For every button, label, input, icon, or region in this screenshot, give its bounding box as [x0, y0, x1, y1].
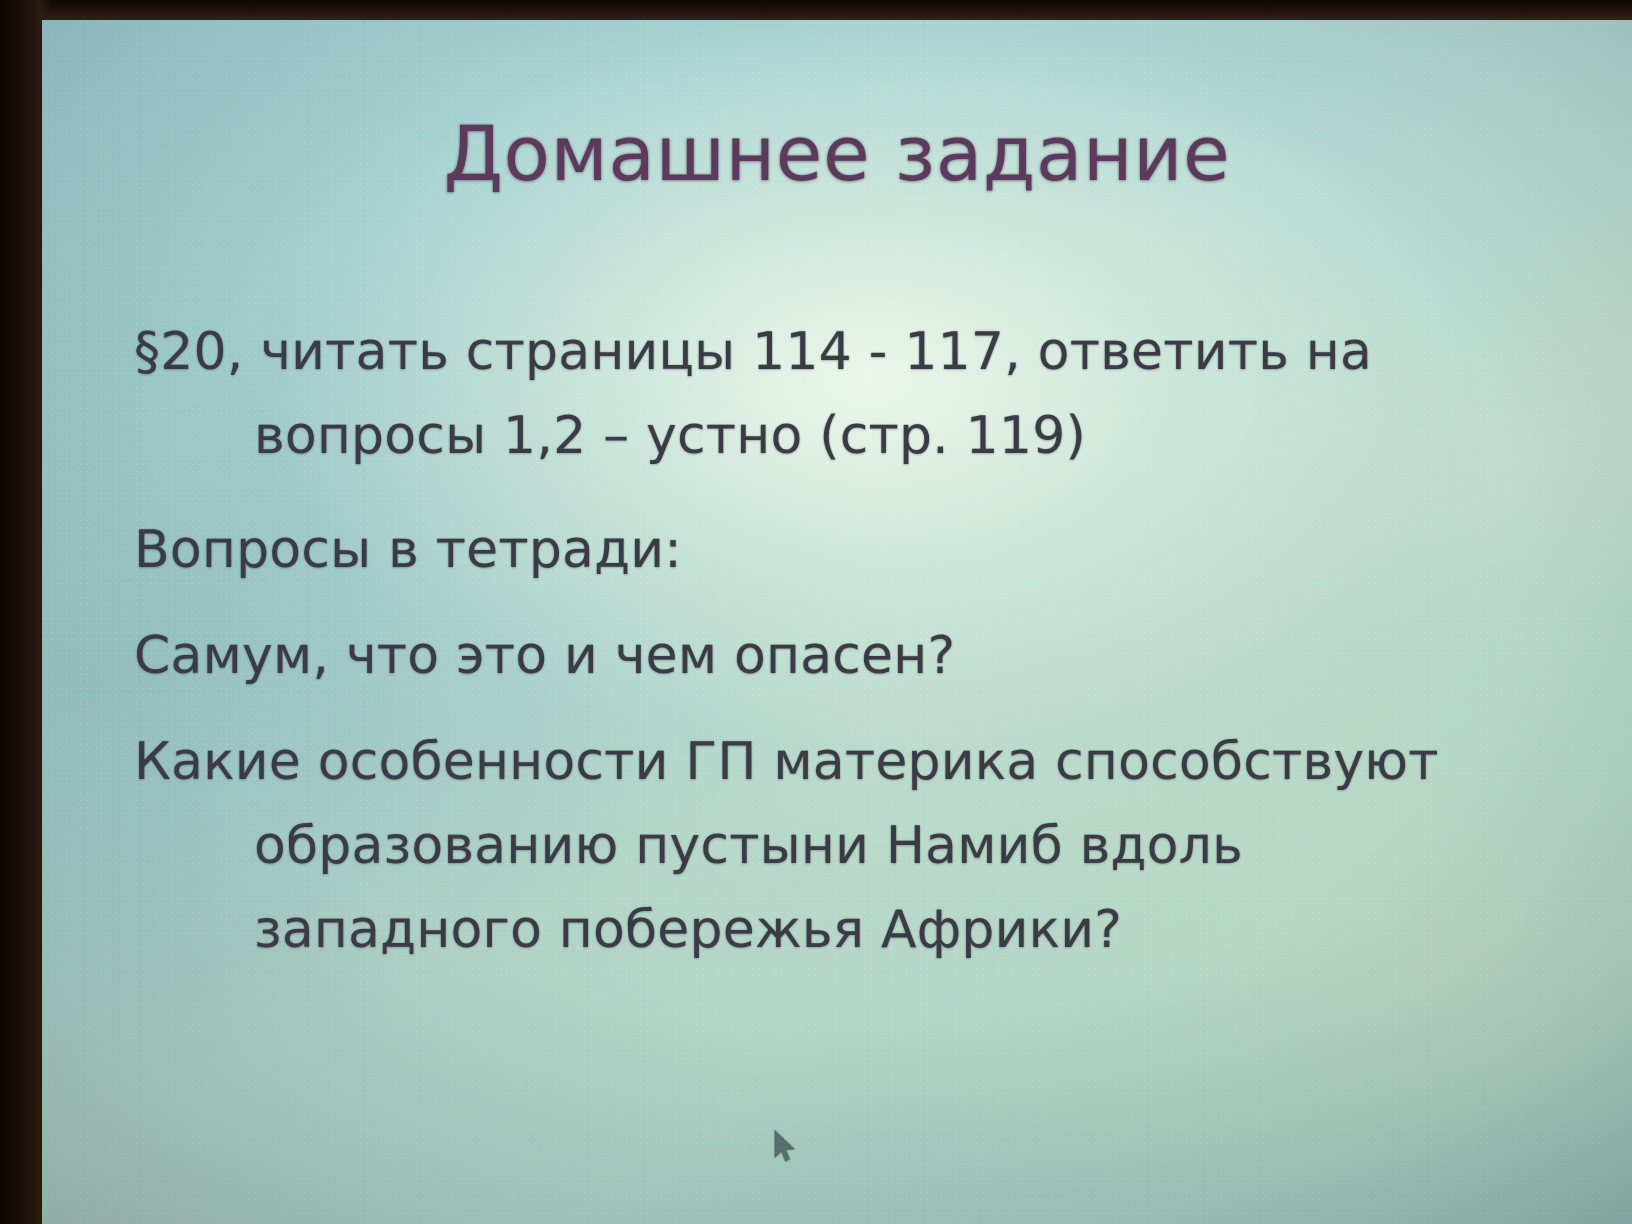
assignment-paragraph-reading: §20, читать страницы 114 - 117, ответить…	[134, 310, 1554, 478]
assignment-line-2: вопросы 1,2 – устно (стр. 119)	[194, 394, 1554, 478]
question-2-line-1: Какие особенности ГП материка способству…	[134, 732, 1439, 792]
presentation-slide: Домашнее задание §20, читать страницы 11…	[42, 20, 1632, 1224]
question-2-line-2: образованию пустыни Намиб вдоль	[194, 804, 1554, 888]
slide-title: Домашнее задание	[42, 116, 1632, 192]
assignment-line-1: §20, читать страницы 114 - 117, ответить…	[134, 322, 1372, 382]
mouse-pointer-icon[interactable]	[772, 1130, 798, 1166]
question-2-line-3: западного побережья Африки?	[194, 888, 1554, 972]
projected-slide-photo: Домашнее задание §20, читать страницы 11…	[0, 0, 1632, 1224]
question-1-text: Самум, что это и чем опасен?	[134, 626, 955, 686]
slide-content: Домашнее задание §20, читать страницы 11…	[42, 20, 1632, 1224]
notebook-heading-text: Вопросы в тетради:	[134, 520, 682, 580]
assignment-paragraph-notebook-heading: Вопросы в тетради:	[134, 508, 1554, 592]
assignment-paragraph-question-2: Какие особенности ГП материка способству…	[134, 720, 1554, 972]
slide-body: §20, читать страницы 114 - 117, ответить…	[134, 310, 1554, 972]
assignment-paragraph-question-1: Самум, что это и чем опасен?	[134, 614, 1554, 698]
